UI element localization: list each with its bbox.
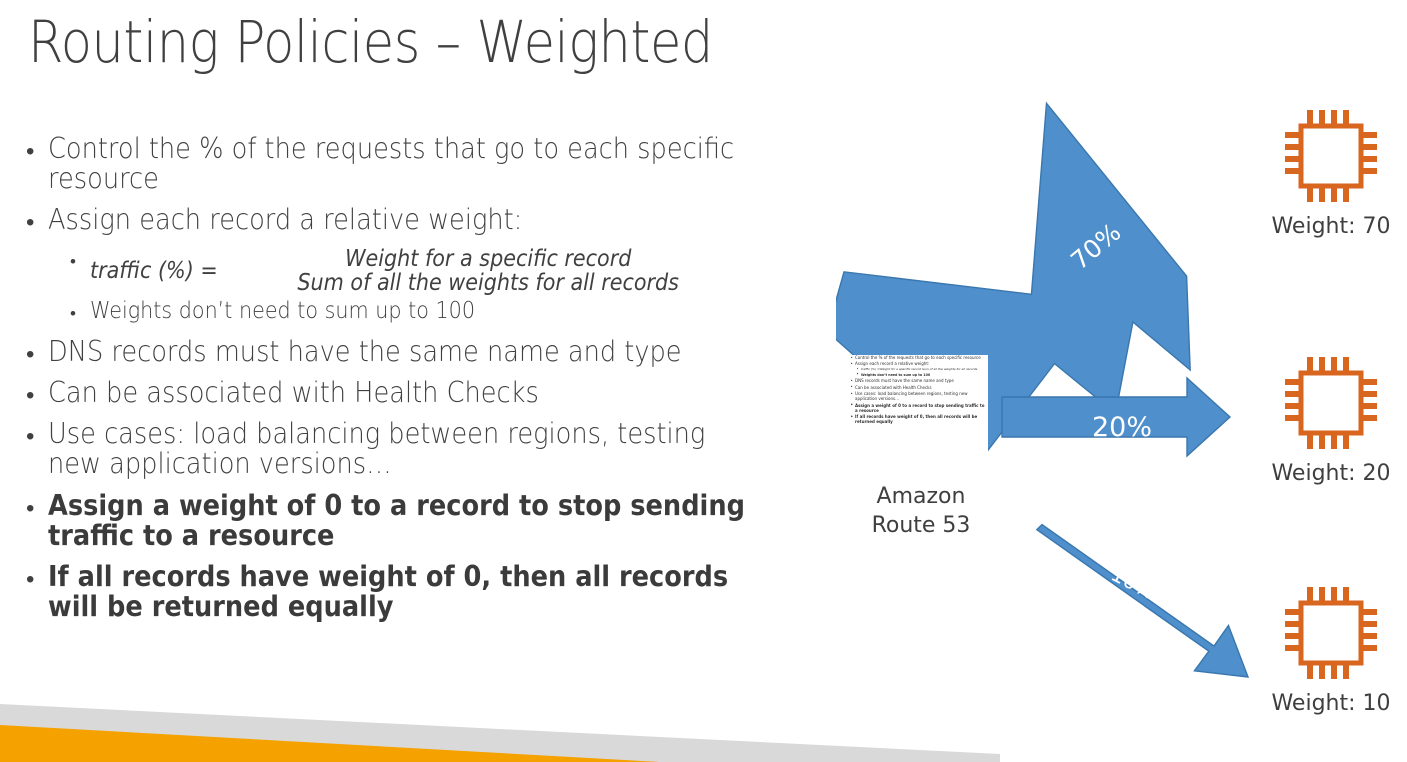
list-item: • Can be associated with Health Checks — [26, 378, 826, 408]
target-node-70: Weight: 70 — [1256, 110, 1406, 239]
bullet-dot-icon: • — [26, 337, 48, 367]
thumb-list-item: Control the % of the requests that go to… — [850, 355, 988, 360]
list-item-label: Assign a weight of 0 to a record to stop… — [48, 491, 748, 551]
footer-band-orange — [0, 725, 660, 762]
thumb-formula-numerator: Weight for a specific record — [880, 367, 922, 371]
list-item: • Use cases: load balancing between regi… — [26, 419, 826, 479]
page-title: Routing Policies – Weighted — [28, 12, 713, 73]
bullet-dot-icon: • — [26, 562, 48, 592]
list-item-label: If all records have weight of 0, then al… — [48, 562, 748, 622]
bullet-list: • Control the % of the requests that go … — [26, 134, 826, 633]
formula-fraction: Weight for a specific record Sum of all … — [224, 247, 752, 296]
bullet-dot-icon: • — [26, 134, 48, 164]
target-node-20: Weight: 20 — [1256, 357, 1406, 486]
thumb-list-item-formula: traffic (%) = Weight for a specific reco… — [850, 368, 988, 372]
list-item-formula: • traffic (%) = Weight for a specific re… — [70, 247, 826, 296]
thumb-list-item: Weights don’t need to sum up to 100 — [850, 373, 988, 377]
arrow-label-20: 20% — [1092, 412, 1152, 443]
bullet-dot-icon: • — [26, 205, 48, 235]
thumb-traffic-formula: traffic (%) = Weight for a specific reco… — [861, 368, 988, 372]
bullet-dot-icon: • — [26, 491, 48, 521]
thumb-formula-left-side: traffic (%) = — [861, 368, 880, 372]
list-item-label: DNS records must have the same name and … — [48, 337, 748, 367]
weighted-routing-diagram: 70% 20% 10% Control the % of the request… — [836, 60, 1407, 760]
list-item-label: Can be associated with Health Checks — [48, 378, 748, 408]
thumb-list-item: Use cases: load balancing between region… — [850, 391, 988, 402]
formula-denominator: Sum of all the weights for all records — [292, 269, 684, 296]
list-item-label: Control the % of the requests that go to… — [48, 134, 748, 194]
list-item-label: Assign each record a relative weight: — [48, 205, 748, 235]
route53-label-line2: Route 53 — [850, 512, 992, 541]
list-item: • Assign a weight of 0 to a record to st… — [26, 491, 826, 551]
route53-slide-thumbnail-icon: Control the % of the requests that go to… — [850, 355, 988, 475]
thumb-formula-denominator: Sum of all the weights for all records — [922, 367, 977, 371]
cpu-chip-icon — [1285, 110, 1377, 206]
list-item-label: Use cases: load balancing between region… — [48, 419, 748, 479]
bullet-dot-icon: • — [70, 299, 90, 322]
target-caption: Weight: 20 — [1256, 461, 1406, 486]
thumb-list-item: DNS records must have the same name and … — [850, 378, 988, 383]
bullet-dot-icon: • — [70, 247, 90, 270]
route53-label-line1: Amazon — [850, 483, 992, 512]
thumb-list-item: Can be associated with Health Checks — [850, 385, 988, 390]
list-item: • If all records have weight of 0, then … — [26, 562, 826, 622]
cpu-chip-icon — [1285, 357, 1377, 453]
formula-left-side: traffic (%) = — [90, 259, 218, 283]
target-caption: Weight: 70 — [1256, 214, 1406, 239]
cpu-chip-icon — [1285, 587, 1377, 683]
thumb-formula-fraction: Weight for a specific record Sum of all … — [880, 368, 978, 372]
amazon-route53-node: Control the % of the requests that go to… — [850, 355, 992, 540]
target-node-10: Weight: 10 — [1256, 587, 1406, 716]
bullet-dot-icon: • — [26, 378, 48, 408]
list-item: • DNS records must have the same name an… — [26, 337, 826, 367]
thumbnail-bullet-list: Control the % of the requests that go to… — [850, 355, 988, 425]
target-caption: Weight: 10 — [1256, 691, 1406, 716]
thumb-list-item: If all records have weight of 0, then al… — [850, 414, 988, 425]
list-item: • Weights don’t need to sum up to 100 — [70, 299, 826, 323]
route53-label: Amazon Route 53 — [850, 483, 992, 540]
list-item: • Assign each record a relative weight: — [26, 205, 826, 235]
traffic-formula: traffic (%) = Weight for a specific reco… — [90, 247, 752, 296]
list-item: • Control the % of the requests that go … — [26, 134, 826, 194]
thumb-list-item: Assign a weight of 0 to a record to stop… — [850, 403, 988, 414]
bullet-dot-icon: • — [26, 419, 48, 449]
list-item-label: Weights don’t need to sum up to 100 — [90, 299, 752, 323]
